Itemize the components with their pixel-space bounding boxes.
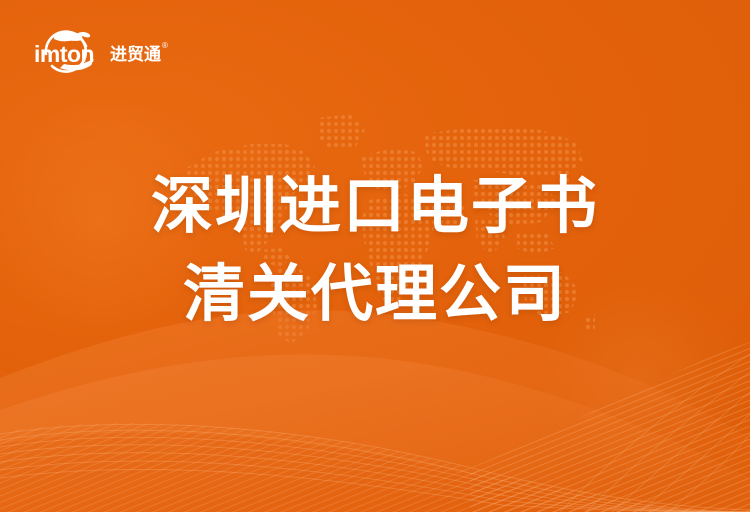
trademark-icon: ® <box>162 41 168 50</box>
promo-banner: imton 进贸通 ® 深圳进口电子书 清关代理公司 <box>0 0 750 512</box>
headline-line-2: 清关代理公司 <box>0 264 750 326</box>
logo-latin-text: imton <box>34 41 94 67</box>
brand-logo[interactable]: imton 进贸通 ® <box>20 24 180 80</box>
headline-line-1: 深圳进口电子书 <box>0 176 750 238</box>
logo-chinese-text: 进贸通 <box>110 44 161 65</box>
headline-block: 深圳进口电子书 清关代理公司 <box>0 176 750 326</box>
